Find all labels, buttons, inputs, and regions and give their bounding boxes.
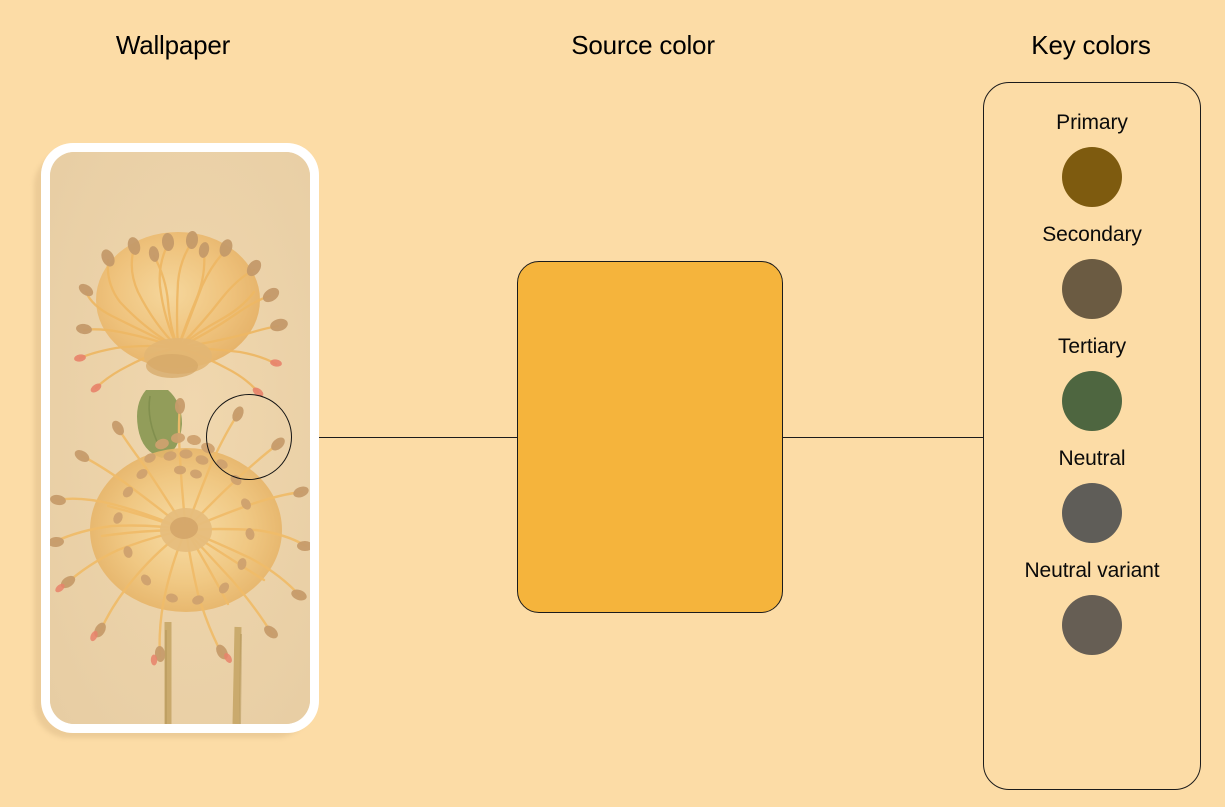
connector-line-source-to-keys (781, 437, 984, 438)
key-colors-column-title: Key colors (968, 30, 1214, 61)
key-color-label-neutral: Neutral (1059, 447, 1126, 470)
key-color-row-neutral-variant[interactable]: Neutral variant (984, 559, 1200, 655)
key-color-swatch-tertiary[interactable] (1062, 371, 1122, 431)
source-color-swatch[interactable] (517, 261, 783, 613)
sample-point-circle-icon (206, 394, 292, 480)
key-color-label-primary: Primary (1056, 111, 1128, 134)
key-color-swatch-neutral-variant[interactable] (1062, 595, 1122, 655)
key-color-row-primary[interactable]: Primary (984, 111, 1200, 207)
key-color-label-tertiary: Tertiary (1058, 335, 1126, 358)
key-color-swatch-neutral[interactable] (1062, 483, 1122, 543)
key-color-label-secondary: Secondary (1042, 223, 1142, 246)
key-color-row-tertiary[interactable]: Tertiary (984, 335, 1200, 431)
key-color-label-neutral-variant: Neutral variant (1024, 559, 1159, 582)
key-color-swatch-secondary[interactable] (1062, 259, 1122, 319)
key-color-row-secondary[interactable]: Secondary (984, 223, 1200, 319)
diagram-canvas: Wallpaper Source color Key colors (0, 0, 1225, 807)
connector-line-wallpaper-to-source (290, 437, 518, 438)
wallpaper-column-title: Wallpaper (0, 30, 346, 61)
key-color-row-neutral[interactable]: Neutral (984, 447, 1200, 543)
key-colors-panel: Primary Secondary Tertiary Neutral Neutr… (983, 82, 1201, 790)
key-color-swatch-primary[interactable] (1062, 147, 1122, 207)
source-color-column-title: Source color (470, 30, 816, 61)
